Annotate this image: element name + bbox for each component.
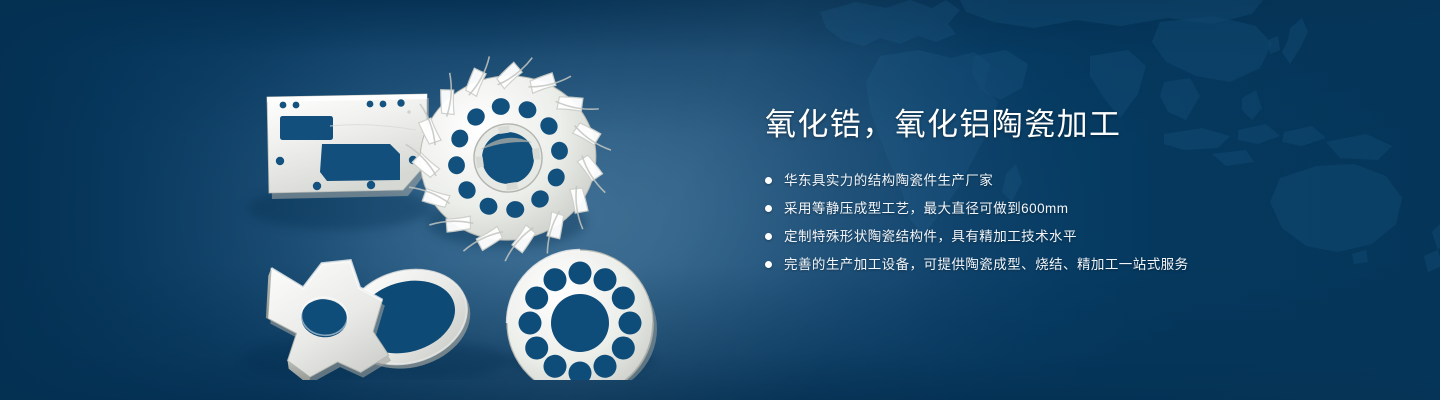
ceramic-impeller [392, 42, 624, 274]
hero-banner: 氧化锆，氧化铝陶瓷加工 华东具实力的结构陶瓷件生产厂家 采用等静压成型工艺，最大… [0, 0, 1440, 400]
list-item: 完善的生产加工设备，可提供陶瓷成型、烧结、精加工一站式服务 [765, 255, 1385, 274]
list-item: 华东具实力的结构陶瓷件生产厂家 [765, 171, 1385, 190]
bullet-dot-icon [765, 233, 772, 240]
list-item-label: 完善的生产加工设备，可提供陶瓷成型、烧结、精加工一站式服务 [784, 255, 1189, 274]
bullet-dot-icon [765, 205, 772, 212]
feature-list: 华东具实力的结构陶瓷件生产厂家 采用等静压成型工艺，最大直径可做到600mm 定… [765, 171, 1385, 274]
list-item: 定制特殊形状陶瓷结构件，具有精加工技术水平 [765, 227, 1385, 246]
list-item: 采用等静压成型工艺，最大直径可做到600mm [765, 199, 1385, 218]
banner-copy: 氧化锆，氧化铝陶瓷加工 华东具实力的结构陶瓷件生产厂家 采用等静压成型工艺，最大… [765, 103, 1385, 283]
list-item-label: 华东具实力的结构陶瓷件生产厂家 [784, 171, 993, 190]
ceramic-products-photo [210, 30, 730, 380]
ceramic-flange-disc [507, 250, 657, 380]
ceramic-plate [267, 94, 429, 199]
page-title: 氧化锆，氧化铝陶瓷加工 [765, 103, 1385, 147]
bullet-dot-icon [765, 261, 772, 268]
list-item-label: 定制特殊形状陶瓷结构件，具有精加工技术水平 [784, 227, 1077, 246]
bullet-dot-icon [765, 177, 772, 184]
list-item-label: 采用等静压成型工艺，最大直径可做到600mm [784, 199, 1068, 218]
